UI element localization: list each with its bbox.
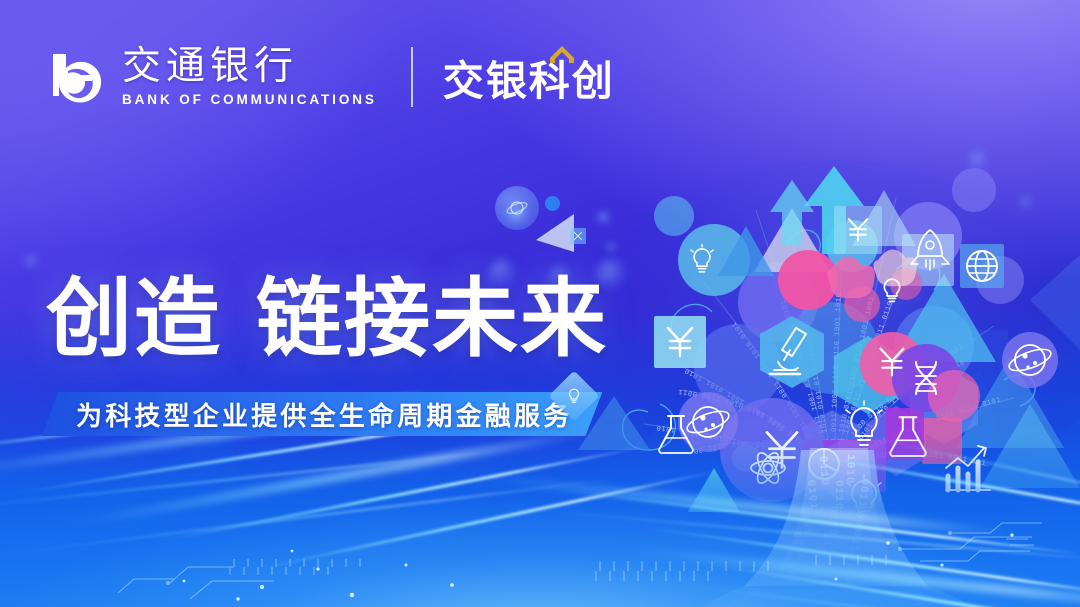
bokeh-dot (24, 254, 40, 270)
brand-logo-row: 交通银行 BANK OF COMMUNICATIONS 交银科创 (44, 44, 615, 110)
floating-square (570, 228, 586, 244)
brand-name-en: BANK OF COMMUNICATIONS (122, 93, 377, 107)
floating-planet-badge (495, 186, 539, 230)
subtitle-banner: 为科技型企业提供全生命周期金融服务 (42, 392, 602, 436)
promo-banner-canvas: 0101 1010 0110 1100 0011 1001 0101 1010 … (0, 0, 1080, 607)
brand-name-cn: 交通银行 (122, 47, 377, 86)
x-mark-icon (573, 231, 583, 241)
subtitle-text: 为科技型企业提供全生命周期金融服务 (76, 396, 572, 433)
sub-brand-name: 交银科创 (443, 47, 615, 107)
floating-triangle (536, 208, 596, 260)
sub-brand-text: 交银科创 (443, 58, 615, 104)
lightbulb-icon (565, 387, 583, 405)
brand-wordmark: 交通银行 BANK OF COMMUNICATIONS (122, 47, 377, 107)
headline-part-1: 创造 (46, 271, 222, 367)
circuit-traces (0, 487, 1080, 607)
planet-icon (505, 196, 529, 220)
headline-part-2: 链接未来 (256, 271, 608, 367)
brand-divider (411, 47, 413, 107)
page-title: 创造链接未来 (46, 276, 608, 362)
bocom-logo-mark (44, 48, 106, 106)
